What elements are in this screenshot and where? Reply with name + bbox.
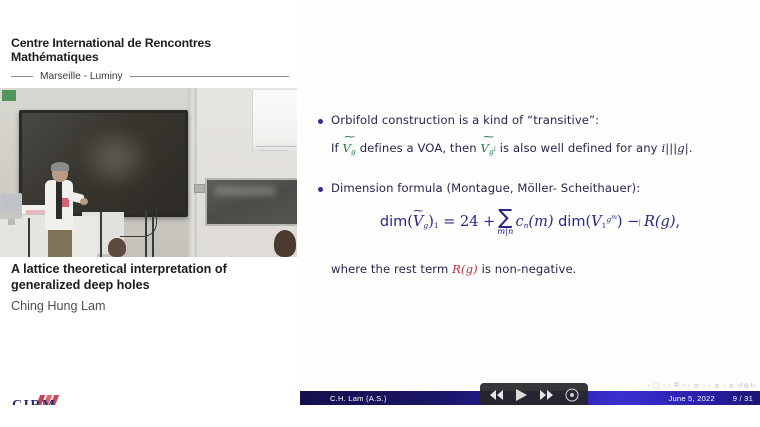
- vg-letter: V: [343, 141, 351, 155]
- bullet-dimension-text: Dimension formula (Montague, Möller- Sch…: [331, 180, 640, 196]
- slide-area: Orbifold construction is a kind of “tran…: [300, 0, 760, 427]
- bullet-dot-icon: [318, 119, 323, 124]
- audience-head-1: [108, 238, 126, 257]
- lecture-video-still[interactable]: [0, 88, 297, 257]
- vgi-tilde-symbol: ~Vgi: [481, 137, 496, 160]
- f-v2-letter: V: [591, 214, 601, 230]
- beamer-nav-item-5[interactable]: ↺⊕↻: [737, 382, 756, 390]
- subline-period: .: [689, 141, 693, 155]
- wall-socket: [194, 184, 205, 193]
- f-rest-arg: (g): [655, 214, 676, 230]
- speaker-legs: [48, 227, 72, 257]
- desktop-computer-screen: [1, 194, 21, 211]
- fast-forward-button[interactable]: [537, 387, 557, 403]
- beamer-nav-item-3[interactable]: ‹ ≡ ›: [708, 382, 726, 390]
- f-summation: ∑m|n: [497, 208, 513, 236]
- exit-sign-icon: [2, 90, 16, 101]
- vg-tilde-symbol: ~Vg: [343, 137, 356, 160]
- speaker-hair: [51, 162, 69, 171]
- bullet-orbifold-subline: If ~Vg defines a VOA, then ~Vgi is also …: [331, 137, 748, 160]
- display-glow: [80, 128, 150, 188]
- desktop-computer-stand: [8, 219, 15, 225]
- bullet-dimension-row: Dimension formula (Montague, Möller- Sch…: [318, 180, 748, 196]
- cable-2: [145, 210, 147, 257]
- talk-author: Ching Hung Lam: [11, 299, 289, 313]
- blackboard-smudge: [215, 186, 275, 196]
- bottom-white-strip: [0, 405, 760, 427]
- talk-title: A lattice theoretical interpretation of …: [11, 262, 289, 293]
- f-rest: R: [644, 214, 655, 230]
- f-equals: =: [443, 214, 455, 230]
- projection-line-2: [258, 150, 288, 151]
- audience-head-2: [274, 230, 296, 257]
- status-speaker-label: C.H. Lam (A.S.): [330, 394, 387, 403]
- vgi-subscript: gi: [489, 147, 496, 156]
- cable-1: [100, 212, 102, 257]
- subline-mid: defines a VOA, then: [360, 141, 477, 155]
- beamer-nav-item-0[interactable]: ‹ □ ›: [647, 382, 666, 390]
- summation-icon: ∑: [497, 208, 513, 227]
- stop-button[interactable]: [562, 387, 582, 403]
- beamer-nav-item-4[interactable]: ≡: [729, 382, 735, 390]
- rest-term-note: where the rest term R(g) is non-negative…: [331, 262, 576, 276]
- cable-3: [152, 216, 154, 257]
- f-sum-sub: m|n: [497, 227, 513, 236]
- play-button[interactable]: [512, 387, 532, 403]
- f-coef-arg: (m): [528, 214, 553, 230]
- f-dim-op-2: dim: [558, 214, 585, 230]
- bullet-orbifold-row: Orbifold construction is a kind of “tran…: [318, 112, 748, 128]
- projection-line: [256, 146, 296, 147]
- bullet-dimension-formula: Dimension formula (Montague, Möller- Sch…: [318, 180, 748, 196]
- beamer-nav-item-2[interactable]: ‹ ≡ ›: [688, 382, 706, 390]
- rule-left: [11, 76, 33, 77]
- subline-tail: is also well defined for any: [500, 141, 658, 155]
- f-dim-op: dim: [380, 214, 407, 230]
- cable-4: [28, 218, 30, 257]
- vgi-sup-i: i: [494, 146, 496, 153]
- institution-name: Centre International de Rencontres Mathé…: [11, 36, 300, 64]
- f-v-tilde: ~V: [413, 211, 423, 230]
- f-tilde-icon: ~: [411, 208, 425, 214]
- institution-location: Marseille - Luminy: [33, 71, 130, 82]
- projection-screen: [252, 90, 297, 153]
- vg-subscript: g: [351, 147, 356, 156]
- f-comma: ,: [675, 214, 680, 230]
- institution-header: Centre International de Rencontres Mathé…: [0, 36, 300, 82]
- bullet-orbifold-text: Orbifold construction is a kind of “tran…: [331, 112, 599, 128]
- f-v2-sup: gm: [606, 215, 617, 224]
- where-prefix: where the rest term: [331, 262, 448, 276]
- bullet-dot-2-icon: [318, 187, 323, 192]
- status-date: June 5, 2022: [668, 394, 714, 403]
- subline-lead: If: [331, 141, 339, 155]
- left-info-panel: Centre International de Rencontres Mathé…: [0, 0, 300, 427]
- f-close-2: ): [617, 214, 623, 230]
- where-suffix: is non-negative.: [482, 262, 577, 276]
- tilde-accent-2-icon: ~: [478, 134, 499, 140]
- video-player-controls[interactable]: [480, 383, 588, 406]
- speaker-hand: [80, 198, 88, 205]
- bullet-orbifold: Orbifold construction is a kind of “tran…: [318, 112, 748, 160]
- f-plus: +: [483, 214, 495, 230]
- rule-right: [130, 76, 289, 77]
- f-index-1: 1: [434, 221, 439, 230]
- slide-body: Orbifold construction is a kind of “tran…: [300, 0, 760, 387]
- cond-g: |g|: [673, 141, 689, 155]
- rewind-button[interactable]: [487, 387, 507, 403]
- beamer-nav-item-1[interactable]: ‹ ⧉ ›: [668, 381, 686, 390]
- room-column: [188, 88, 197, 257]
- talk-metadata: A lattice theoretical interpretation of …: [11, 262, 289, 313]
- f-const-24: 24: [460, 214, 478, 230]
- tilde-accent-icon: ~: [340, 134, 358, 140]
- vgi-letter: V: [481, 141, 489, 155]
- f-minus: −: [627, 214, 639, 230]
- beamer-navigation-bar[interactable]: ‹ □ › ‹ ⧉ › ‹ ≡ › ‹ ≡ › ≡ ↺⊕↻: [647, 381, 756, 390]
- where-term-rg: R(g): [452, 262, 478, 276]
- status-page-number: 9 / 31: [733, 394, 753, 403]
- f-coef: c: [515, 214, 523, 230]
- presentation-viewer: Centre International de Rencontres Mathé…: [0, 0, 760, 427]
- dimension-formula-row: dim(~Vg)1 = 24 +∑m|ncn(m) dim(V1gm) − R(…: [300, 208, 760, 236]
- dimension-formula: dim(~Vg)1 = 24 +∑m|ncn(m) dim(V1gm) − R(…: [380, 208, 680, 236]
- institution-location-row: Marseille - Luminy: [11, 71, 289, 82]
